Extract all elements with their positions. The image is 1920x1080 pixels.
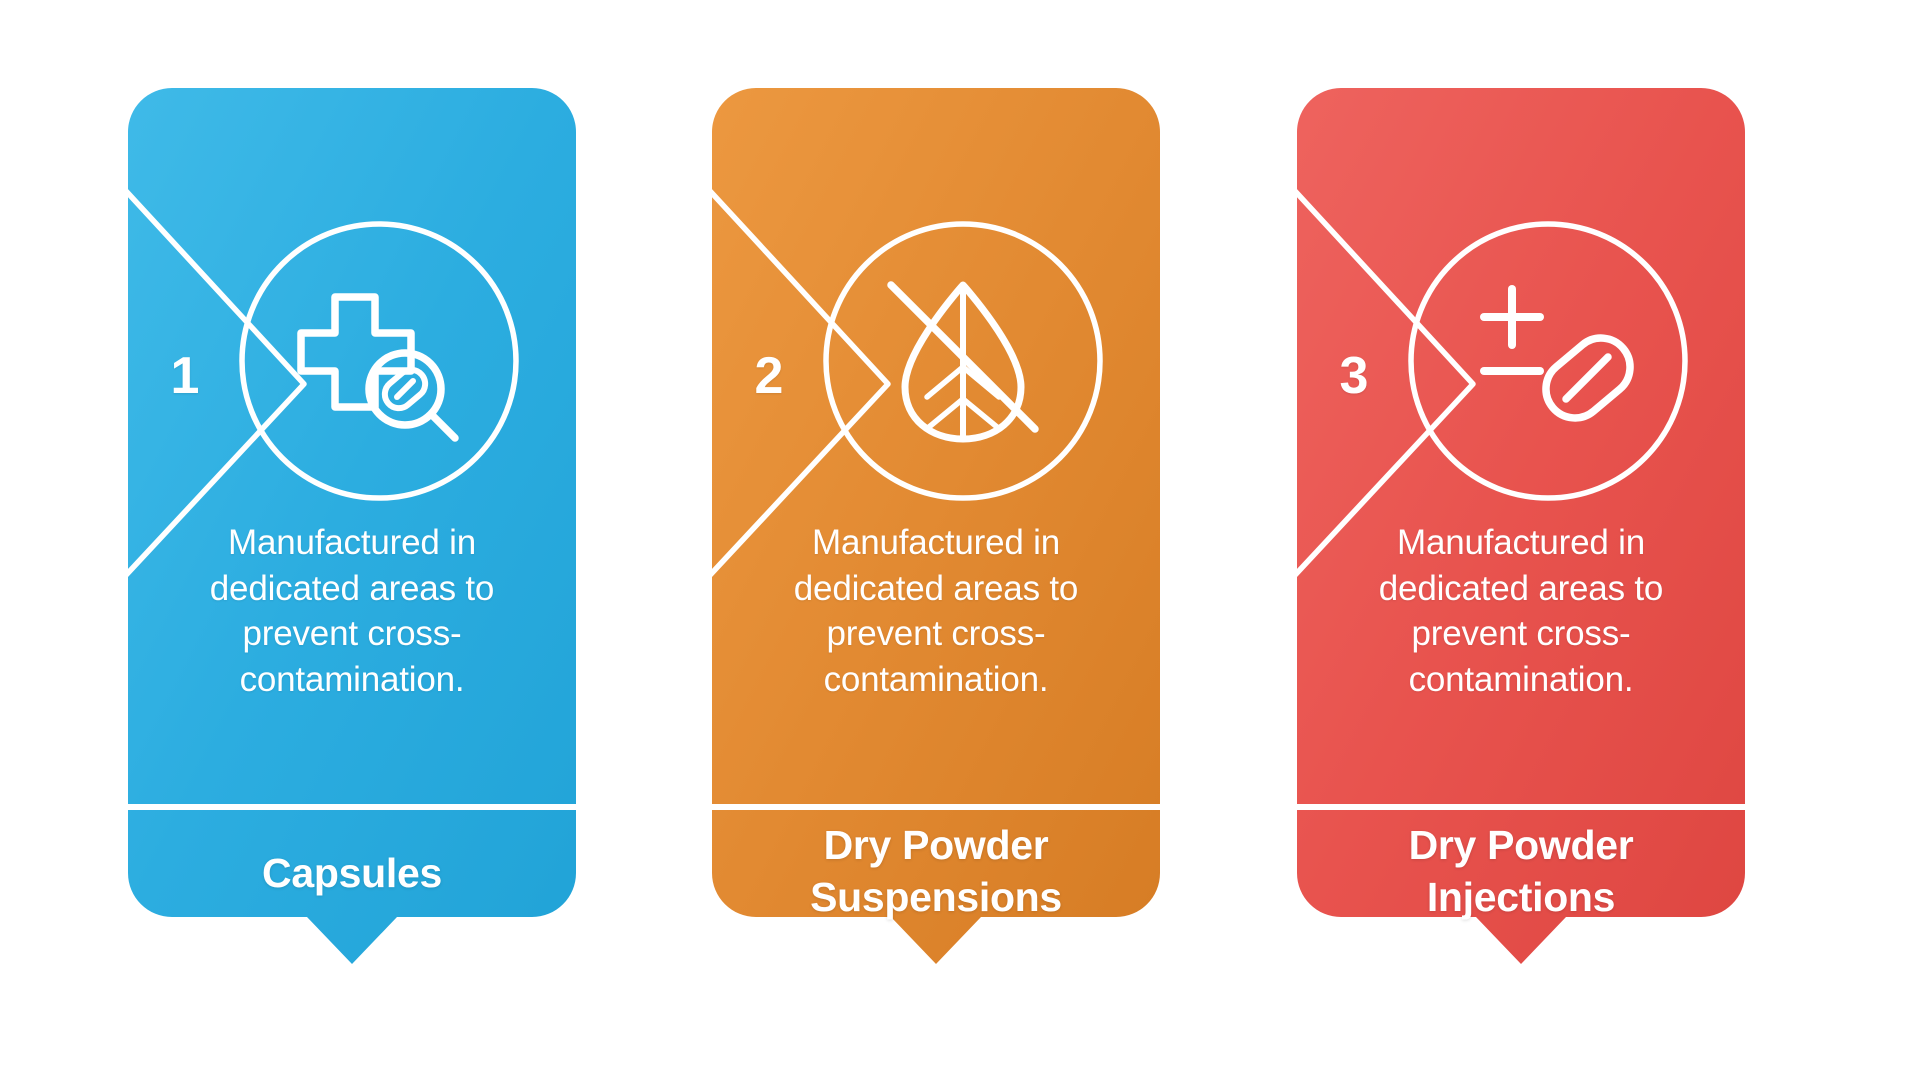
no-water-droplet-leaf-icon xyxy=(858,256,1068,466)
step-number-2: 2 xyxy=(734,350,804,402)
card-title-2: Dry Powder Suspensions xyxy=(730,820,1142,923)
card-body-text-2: Manufactured in dedicated areas to preve… xyxy=(746,520,1126,702)
step-card-3[interactable]: 3 Manufactured in dedicated areas to pre… xyxy=(1297,88,1745,964)
medical-cross-pill-magnifier-icon xyxy=(274,256,484,466)
step-card-2[interactable]: 2 Manufactured in dedicated areas to pr xyxy=(712,88,1160,964)
card-body-text-3: Manufactured in dedicated areas to preve… xyxy=(1331,520,1711,702)
card-title-3: Dry Powder Injections xyxy=(1315,820,1727,923)
step-number-1: 1 xyxy=(150,350,220,402)
infographic-canvas: 1 Manufactured in dedicated areas to pre… xyxy=(0,0,1920,1080)
cards-row: 1 Manufactured in dedicated areas to pre… xyxy=(0,0,1920,1080)
step-number-3: 3 xyxy=(1319,350,1389,402)
card-title-1: Capsules xyxy=(146,848,558,900)
plus-minus-capsule-icon xyxy=(1443,256,1653,466)
card-body-text-1: Manufactured in dedicated areas to preve… xyxy=(162,520,542,702)
step-card-1[interactable]: 1 Manufactured in dedicated areas to pre… xyxy=(128,88,576,964)
